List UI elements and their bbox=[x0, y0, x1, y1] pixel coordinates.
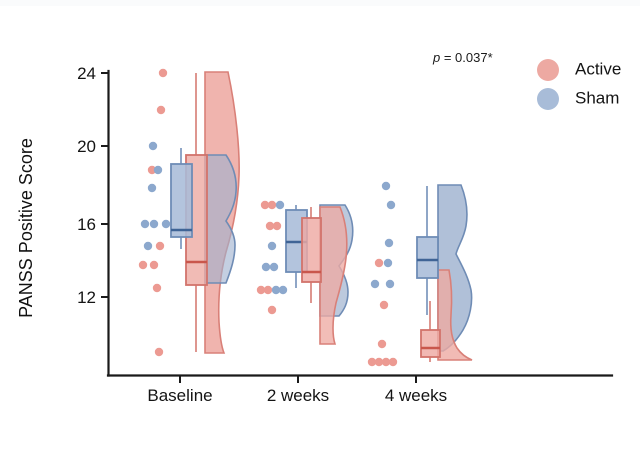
legend-item-sham[interactable]: Sham bbox=[537, 88, 619, 110]
y-tick-label-16: 16 bbox=[77, 215, 96, 234]
p-value-text: = 0.037* bbox=[440, 50, 492, 65]
point-sham bbox=[149, 142, 157, 150]
box bbox=[417, 237, 438, 278]
boxplot-active-2weeks bbox=[302, 207, 321, 303]
y-tick-label-20: 20 bbox=[77, 137, 96, 156]
x-tick-label-2weeks: 2 weeks bbox=[267, 386, 329, 405]
group-baseline bbox=[139, 69, 239, 356]
point-sham bbox=[154, 166, 162, 174]
point-active bbox=[375, 259, 383, 267]
x-tick-label-4weeks: 4 weeks bbox=[385, 386, 447, 405]
point-sham bbox=[141, 220, 149, 228]
scatter-2weeks bbox=[257, 201, 287, 314]
point-active bbox=[268, 306, 276, 314]
y-tick-label-12: 12 bbox=[77, 288, 96, 307]
boxplot-sham-4weeks bbox=[417, 186, 438, 315]
point-sham bbox=[262, 263, 270, 271]
point-sham bbox=[162, 220, 170, 228]
point-active bbox=[155, 348, 163, 356]
point-sham bbox=[387, 201, 395, 209]
boxplot-sham-baseline bbox=[171, 148, 192, 249]
violin-active-2weeks bbox=[320, 207, 347, 344]
y-axis-title: PANSS Positive Score bbox=[16, 138, 36, 318]
legend-label-active: Active bbox=[575, 59, 621, 78]
scatter-4weeks bbox=[368, 182, 397, 366]
point-sham bbox=[148, 184, 156, 192]
legend: Active Sham bbox=[537, 59, 621, 110]
point-sham bbox=[144, 242, 152, 250]
figure-canvas: 24 20 16 12 PANSS Positive Score Baselin… bbox=[0, 0, 640, 454]
point-sham bbox=[276, 201, 284, 209]
point-sham bbox=[384, 259, 392, 267]
point-active bbox=[159, 69, 167, 77]
group-4weeks bbox=[368, 182, 472, 366]
point-sham bbox=[150, 220, 158, 228]
legend-item-active[interactable]: Active bbox=[537, 59, 621, 81]
raincloud-plot: 24 20 16 12 PANSS Positive Score Baselin… bbox=[0, 0, 640, 454]
point-sham bbox=[270, 263, 278, 271]
point-sham bbox=[386, 280, 394, 288]
point-sham bbox=[385, 239, 393, 247]
point-sham bbox=[371, 280, 379, 288]
group-2weeks bbox=[257, 201, 353, 344]
p-symbol: p bbox=[432, 50, 440, 65]
point-active bbox=[273, 222, 281, 230]
point-active bbox=[150, 261, 158, 269]
point-sham bbox=[268, 242, 276, 250]
point-active bbox=[139, 261, 147, 269]
point-sham bbox=[382, 182, 390, 190]
point-active bbox=[268, 201, 276, 209]
scatter-baseline bbox=[139, 69, 170, 356]
y-tick-label-24: 24 bbox=[77, 64, 96, 83]
box bbox=[421, 330, 440, 357]
x-axis: Baseline 2 weeks 4 weeks bbox=[108, 375, 612, 405]
p-value-annotation: p = 0.037* bbox=[432, 50, 493, 65]
legend-swatch-sham-icon bbox=[537, 88, 559, 110]
point-active bbox=[389, 358, 397, 366]
point-active bbox=[156, 242, 164, 250]
point-active bbox=[380, 301, 388, 309]
box bbox=[171, 164, 192, 237]
point-sham bbox=[279, 286, 287, 294]
point-active bbox=[157, 106, 165, 114]
point-active bbox=[264, 286, 272, 294]
y-axis: 24 20 16 12 PANSS Positive Score bbox=[16, 64, 109, 376]
point-active bbox=[153, 284, 161, 292]
boxplot-active-4weeks bbox=[421, 301, 440, 362]
legend-label-sham: Sham bbox=[575, 88, 619, 107]
point-active bbox=[378, 340, 386, 348]
x-tick-label-baseline: Baseline bbox=[147, 386, 212, 405]
legend-swatch-active-icon bbox=[537, 59, 559, 81]
